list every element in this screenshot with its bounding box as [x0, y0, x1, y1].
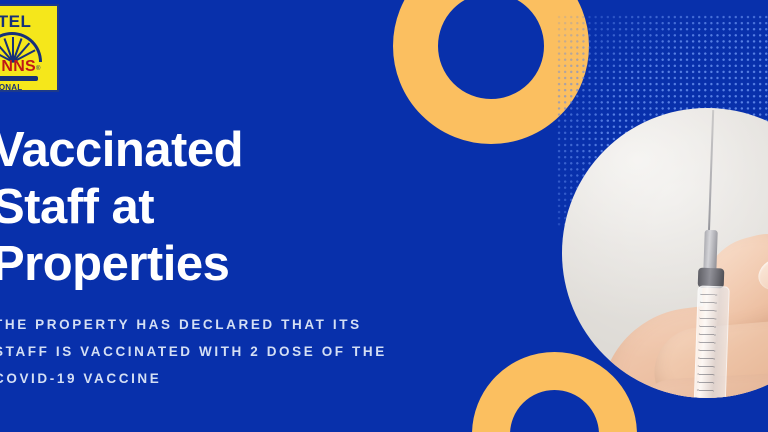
- logo-inns-text: N INNS: [0, 58, 36, 76]
- headline-line-1: Vaccinated: [0, 122, 462, 179]
- vaccination-announcement-poster: OTEL N INNS ® NATIONAL Vaccinated Staff …: [0, 0, 768, 432]
- headline-line-3: Properties: [0, 236, 462, 293]
- logo-international-text: NATIONAL: [0, 83, 22, 92]
- body-line-1: THE PROPERTY HAS DECLARED THAT ITS: [0, 311, 474, 338]
- syringe-needle: [708, 110, 714, 236]
- logo-hotel-text: OTEL: [0, 12, 31, 32]
- syringe-graduation-marks: [696, 294, 717, 398]
- logo-underline-bar: [0, 76, 38, 81]
- body-line-3: COVID-19 VACCINE: [0, 365, 474, 392]
- body-line-2: STAFF IS VACCINATED WITH 2 DOSE OF THE: [0, 338, 474, 365]
- body-copy: THE PROPERTY HAS DECLARED THAT ITS STAFF…: [0, 311, 474, 392]
- logo-registered-mark: ®: [36, 66, 40, 72]
- page-title: Vaccinated Staff at Properties: [0, 122, 462, 293]
- brand-logo: OTEL N INNS ® NATIONAL: [0, 4, 59, 92]
- vaccine-photo-circle: [562, 108, 768, 398]
- headline-line-2: Staff at: [0, 179, 462, 236]
